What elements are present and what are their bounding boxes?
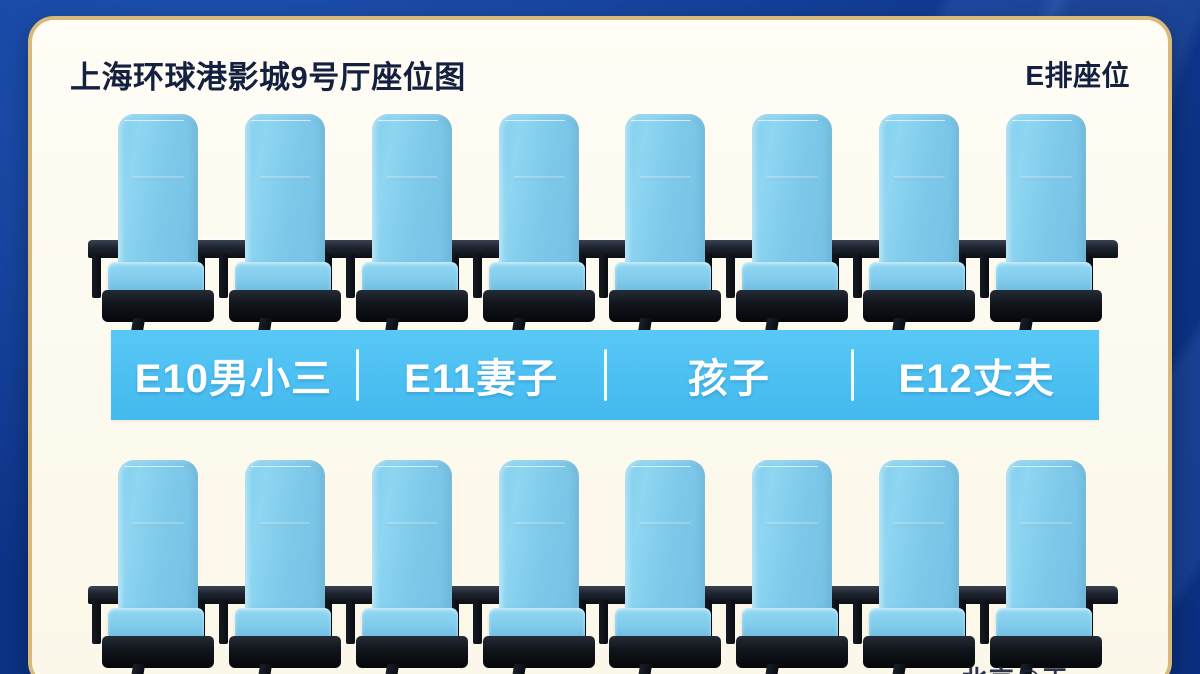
seat-cushion [869, 262, 965, 292]
seat-base [356, 290, 468, 322]
armrest-support-left [980, 600, 989, 644]
seat-row-back [100, 458, 1106, 674]
seat[interactable] [354, 458, 472, 674]
seat-back [245, 114, 325, 266]
seat-back [625, 114, 705, 266]
label-cell-e10[interactable]: E10男小三 [111, 330, 356, 420]
seat-cushion [489, 608, 585, 638]
label-child: 孩子 [688, 346, 770, 404]
seat[interactable] [988, 112, 1106, 332]
seat[interactable] [861, 458, 979, 674]
seat-cushion [996, 608, 1092, 638]
seat-base [483, 290, 595, 322]
label-e12: E12丈夫 [899, 346, 1055, 404]
armrest-support-left [853, 600, 862, 644]
seat-cushion [235, 262, 331, 292]
seat[interactable] [100, 112, 218, 332]
seat-back [1006, 114, 1086, 266]
seat-cushion [362, 262, 458, 292]
armrest-support-left [726, 254, 735, 298]
armrest-support-left [980, 254, 989, 298]
armrest-support-left [473, 600, 482, 644]
seat[interactable] [227, 458, 345, 674]
seat-back [752, 460, 832, 612]
seat-cushion [742, 262, 838, 292]
seat-base [102, 636, 214, 668]
seat-base [102, 290, 214, 322]
seat-back [499, 114, 579, 266]
seat-cushion [108, 262, 204, 292]
seat-back [625, 460, 705, 612]
seat-base [736, 290, 848, 322]
armrest-support-left [219, 254, 228, 298]
seat-back [879, 114, 959, 266]
seat-cushion [742, 608, 838, 638]
row-label: E排座位 [1025, 54, 1130, 94]
seat-cushion [235, 608, 331, 638]
card-header: 上海环球港影城9号厅座位图 E排座位 [32, 50, 1168, 98]
label-e10: E10男小三 [135, 346, 332, 404]
label-cell-e12[interactable]: E12丈夫 [854, 330, 1099, 420]
seat-back [752, 114, 832, 266]
seat-base [483, 636, 595, 668]
armrest-support-left [853, 254, 862, 298]
seat-base [229, 290, 341, 322]
armrest-support-left [219, 600, 228, 644]
seat[interactable] [988, 458, 1106, 674]
seat-cushion [489, 262, 585, 292]
watermark-text: 北京@正... [962, 660, 1096, 674]
seat-base [990, 290, 1102, 322]
label-cell-e11[interactable]: E11妻子 [359, 330, 604, 420]
armrest-support-left [92, 600, 101, 644]
seat[interactable] [607, 112, 725, 332]
seat-back [118, 460, 198, 612]
armrest-support-left [346, 600, 355, 644]
seat-map-card: 上海环球港影城9号厅座位图 E排座位 [28, 16, 1172, 674]
armrest-support-left [346, 254, 355, 298]
seat-base [609, 636, 721, 668]
seat[interactable] [861, 112, 979, 332]
armrest-support-left [599, 254, 608, 298]
seat-cushion [362, 608, 458, 638]
seat-label-bar: E10男小三 E11妻子 孩子 E12丈夫 [111, 330, 1099, 420]
seat-cushion [615, 608, 711, 638]
seat[interactable] [481, 112, 599, 332]
seat-row-front [100, 112, 1106, 332]
page-title: 上海环球港影城9号厅座位图 [70, 52, 466, 97]
seat[interactable] [607, 458, 725, 674]
seat[interactable] [227, 112, 345, 332]
seat-back [372, 460, 452, 612]
seat-base [229, 636, 341, 668]
seat-base [863, 636, 975, 668]
seat-back [372, 114, 452, 266]
armrest-support-left [599, 600, 608, 644]
armrest-support-left [726, 600, 735, 644]
seat-back [879, 460, 959, 612]
seat[interactable] [354, 112, 472, 332]
seat-back [118, 114, 198, 266]
seat-cushion [108, 608, 204, 638]
seat-cushion [615, 262, 711, 292]
seat-back [1006, 460, 1086, 612]
armrest-support-left [92, 254, 101, 298]
seat-base [736, 636, 848, 668]
seat[interactable] [734, 458, 852, 674]
label-e11: E11妻子 [404, 346, 558, 404]
seat-cushion [996, 262, 1092, 292]
seat[interactable] [100, 458, 218, 674]
seat-cushion [869, 608, 965, 638]
seat[interactable] [481, 458, 599, 674]
seat[interactable] [734, 112, 852, 332]
armrest-support-left [473, 254, 482, 298]
seat-base [356, 636, 468, 668]
seat-base [863, 290, 975, 322]
label-cell-child[interactable]: 孩子 [607, 330, 852, 420]
seat-base [609, 290, 721, 322]
seat-back [499, 460, 579, 612]
seat-back [245, 460, 325, 612]
